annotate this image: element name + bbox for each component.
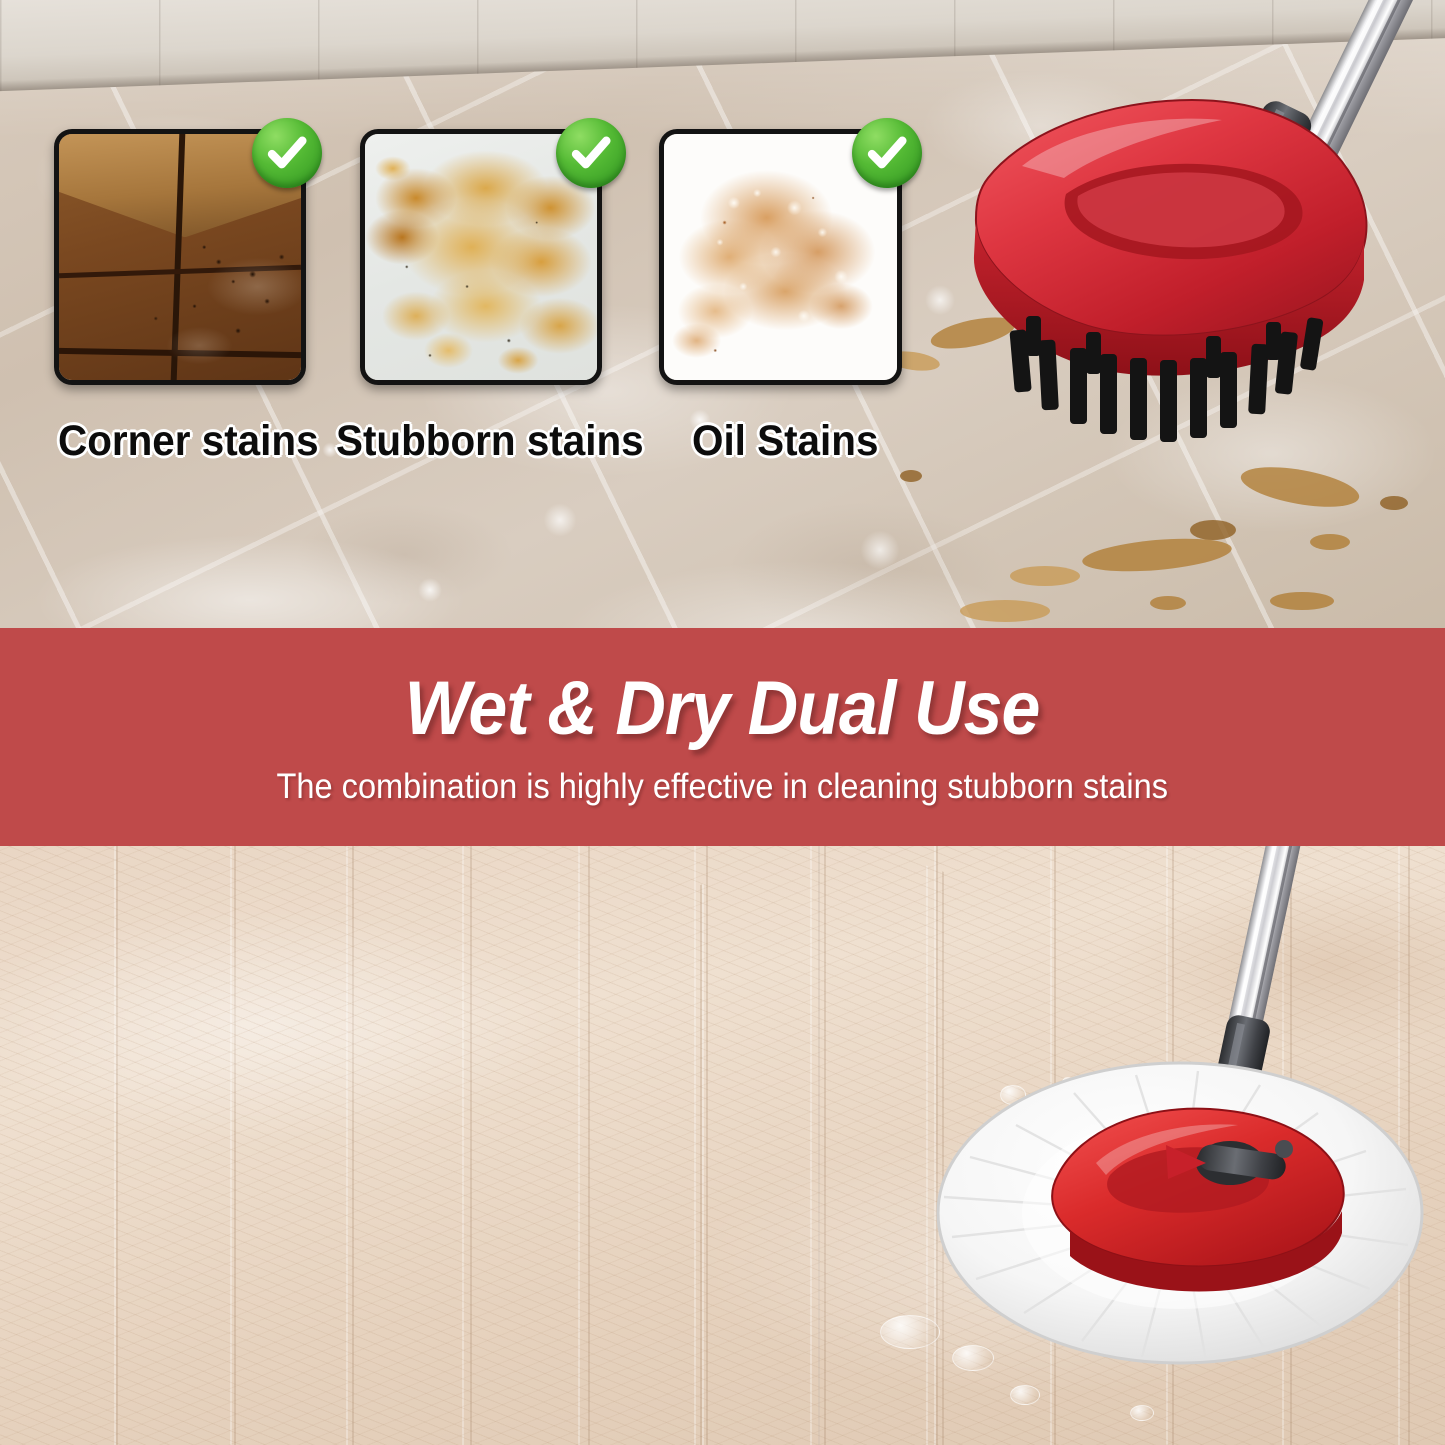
caption-corner-stains: Corner stains bbox=[58, 420, 319, 463]
banner-subtitle: The combination is highly effective in c… bbox=[277, 769, 1168, 804]
check-badge-stubborn-stains bbox=[556, 118, 626, 188]
caption-oil-stains: Oil Stains bbox=[692, 420, 878, 463]
spin-mop-tool bbox=[930, 845, 1445, 1445]
headline-banner: Wet & Dry Dual Use The combination is hi… bbox=[0, 628, 1445, 846]
check-badge-corner-stains bbox=[252, 118, 322, 188]
top-scene-tile-floor: Corner stains Stubborn stains Oil Stains bbox=[0, 0, 1445, 630]
bottom-scene-wood-floor: Food Scraps Hair Coffee Liquid bbox=[0, 845, 1445, 1445]
check-icon bbox=[864, 130, 910, 176]
product-feature-poster: Corner stains Stubborn stains Oil Stains… bbox=[0, 0, 1445, 1445]
scrub-brush-tool bbox=[960, 0, 1445, 540]
caption-stubborn-stains: Stubborn stains bbox=[336, 420, 644, 463]
banner-title: Wet & Dry Dual Use bbox=[405, 671, 1040, 747]
check-badge-oil-stains bbox=[852, 118, 922, 188]
check-icon bbox=[568, 130, 614, 176]
check-icon bbox=[264, 130, 310, 176]
